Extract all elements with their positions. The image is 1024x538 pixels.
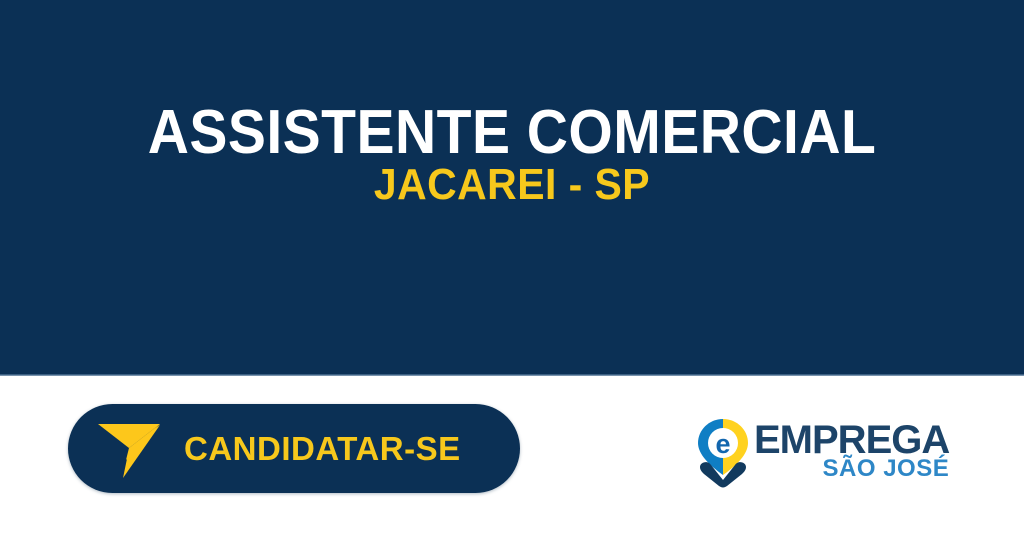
brand-logo: e EMPREGA SÃO JOSÉ bbox=[697, 418, 929, 492]
job-posting-card: ASSISTENTE COMERCIAL JACAREI - SP CANDID… bbox=[0, 0, 1024, 538]
send-icon bbox=[96, 418, 162, 480]
page-title: ASSISTENTE COMERCIAL bbox=[41, 99, 983, 167]
brand-secondary-label: SÃO JOSÉ bbox=[823, 457, 950, 481]
apply-button[interactable]: CANDIDATAR-SE bbox=[68, 404, 520, 493]
brand-primary-label: EMPREGA bbox=[754, 420, 949, 460]
brand-text-block: EMPREGA SÃO JOSÉ bbox=[754, 418, 949, 481]
apply-button-label: CANDIDATAR-SE bbox=[184, 430, 461, 468]
svg-text:e: e bbox=[715, 429, 730, 459]
job-location: JACAREI - SP bbox=[36, 160, 988, 210]
hero-banner: ASSISTENTE COMERCIAL JACAREI - SP bbox=[0, 0, 1024, 375]
map-pin-icon: e bbox=[697, 418, 749, 488]
